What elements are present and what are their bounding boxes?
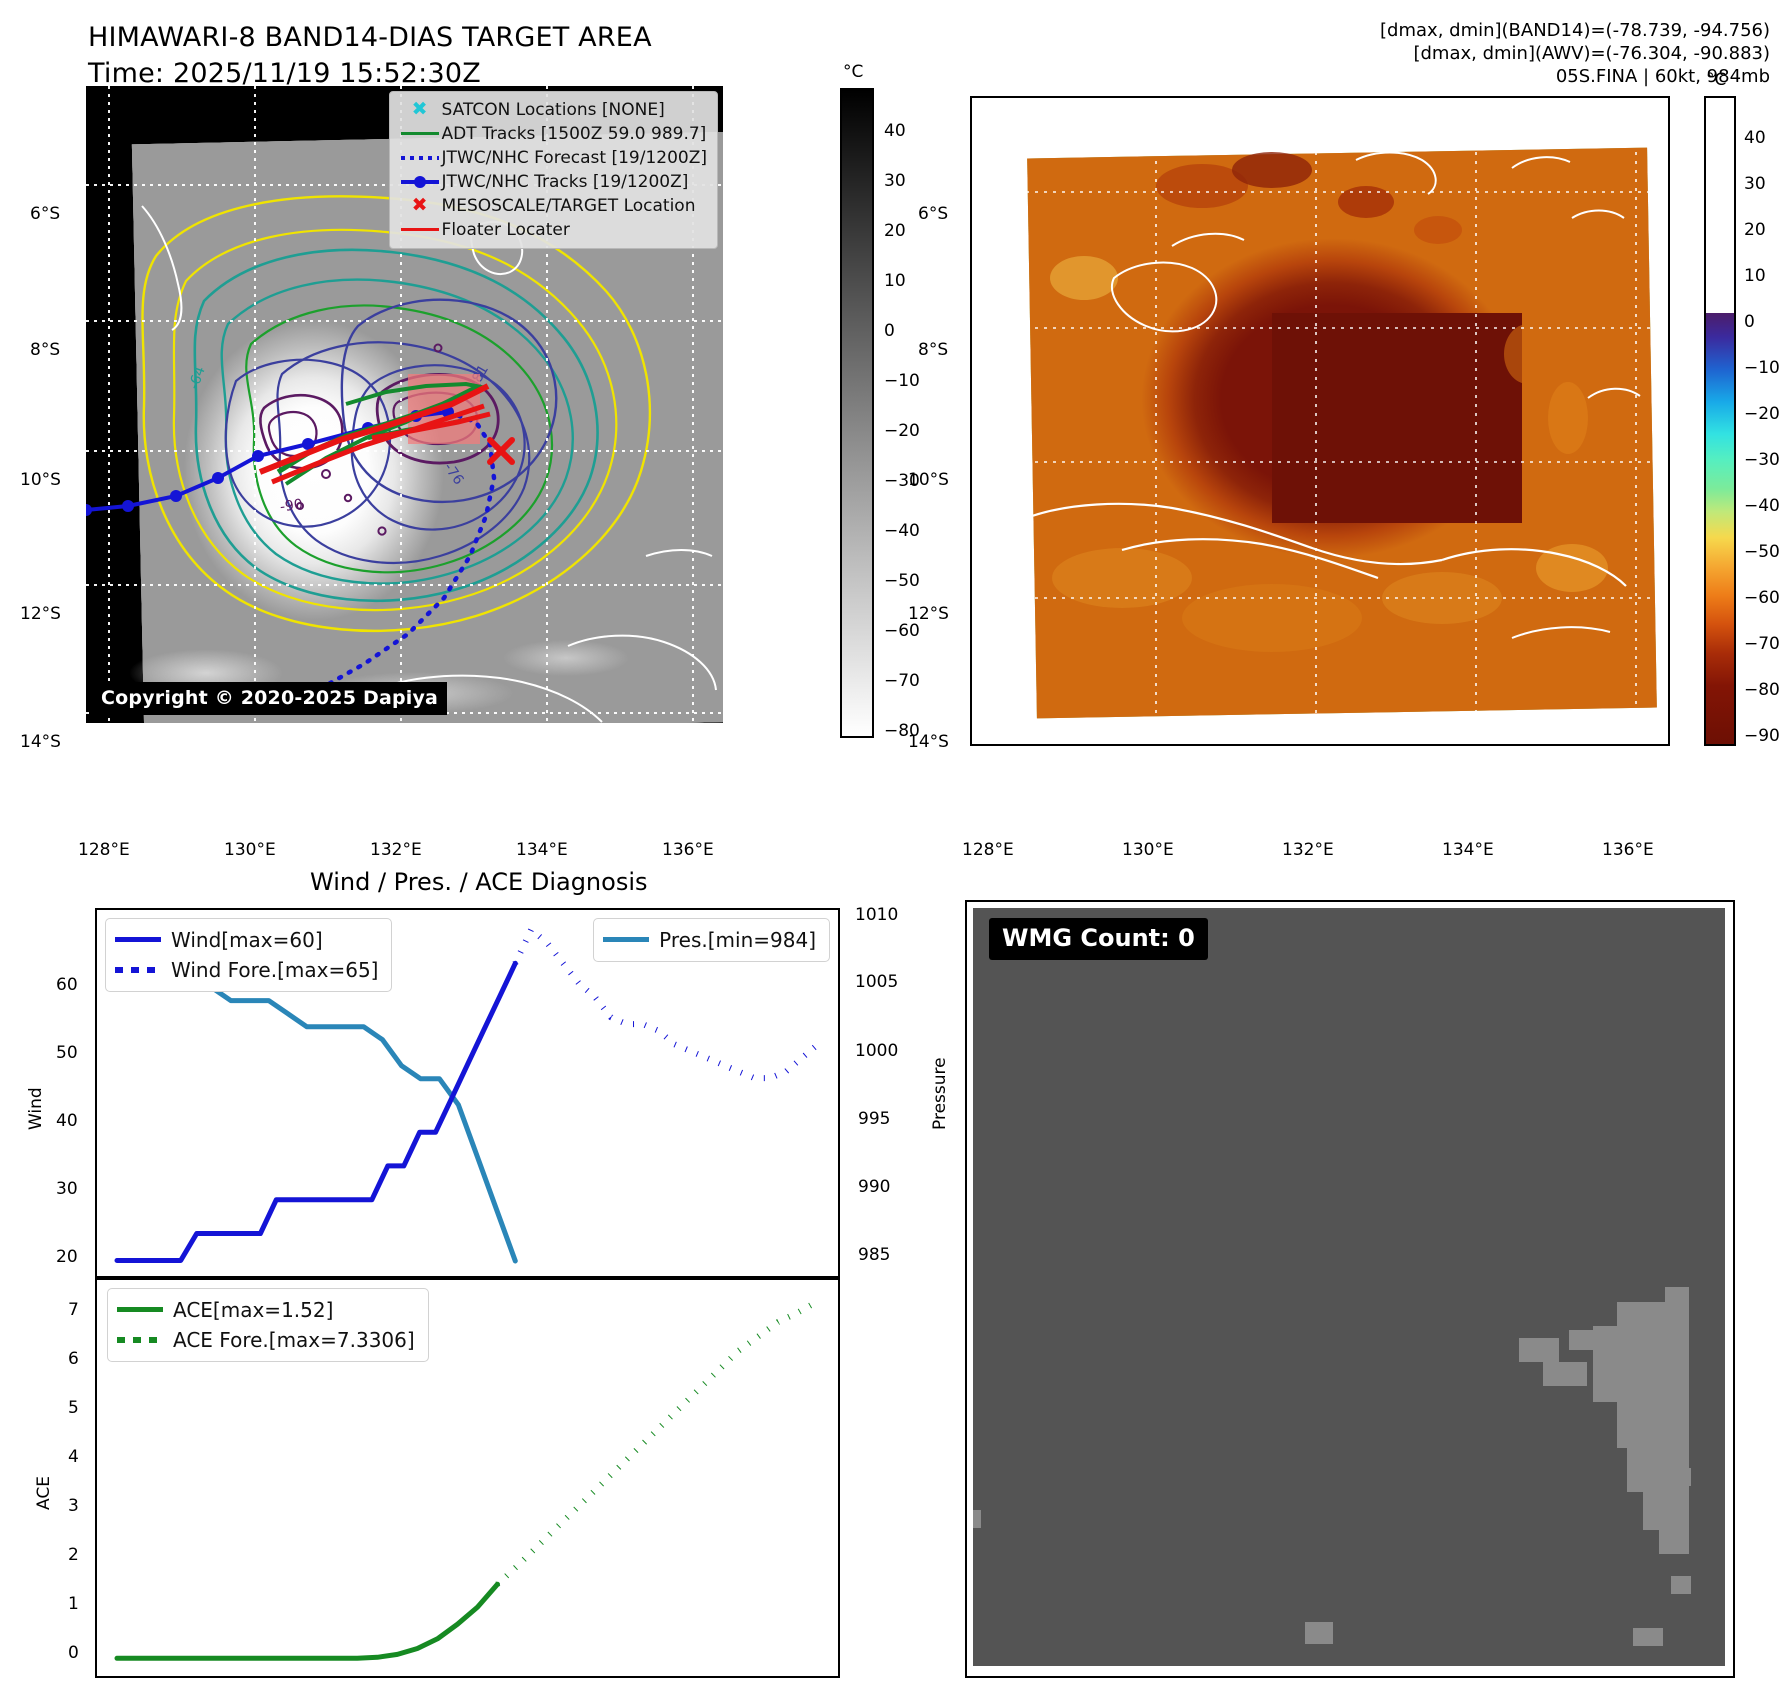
legend-label-adt: ADT Tracks [1500Z 59.0 989.7] <box>442 124 707 144</box>
pressure-line-icon <box>603 937 659 942</box>
awv-satellite-map[interactable] <box>970 96 1670 746</box>
legend-label-ace: ACE[max=1.52] <box>173 1298 333 1322</box>
lon-tick-134e-right: 134°E <box>1442 840 1494 860</box>
legend-item-adt[interactable]: ADT Tracks [1500Z 59.0 989.7] <box>398 122 707 145</box>
storm-id-label: 05S.FINA | 60kt, 984mb <box>1556 66 1770 87</box>
legend-label-satcon: SATCON Locations [NONE] <box>442 100 665 120</box>
legend-item-satcon[interactable]: ✖ SATCON Locations [NONE] <box>398 98 707 121</box>
wind-tick-30: 30 <box>56 1179 78 1199</box>
cbr-tick-10: 10 <box>1744 266 1766 286</box>
lat-tick-12s-right: 12°S <box>908 604 949 624</box>
diagnosis-chart-title: Wind / Pres. / ACE Diagnosis <box>310 868 648 896</box>
wmg-cell <box>1633 1628 1663 1646</box>
mesoscale-x-icon: ✖ <box>398 196 442 215</box>
pres-tick-995: 995 <box>858 1109 890 1129</box>
lat-tick-8s-left: 8°S <box>30 340 60 360</box>
legend-item-floater[interactable]: Floater Locater <box>398 218 707 241</box>
cbr-tick-m10: −10 <box>1744 358 1780 378</box>
cbr-tick-m70: −70 <box>1744 634 1780 654</box>
lon-tick-136e-right: 136°E <box>1602 840 1654 860</box>
cbr-tick-m30: −30 <box>1744 450 1780 470</box>
legend-item-wind-forecast[interactable]: Wind Fore.[max=65] <box>115 956 378 983</box>
wind-axis-label: Wind <box>26 1087 46 1130</box>
cbr-tick-m80: −80 <box>1744 680 1780 700</box>
cbr-tick-0: 0 <box>1744 312 1755 332</box>
wind-line-icon <box>115 937 171 942</box>
track-line-marker-icon <box>398 180 442 184</box>
cbr-tick-m20: −20 <box>1744 404 1780 424</box>
colorbar-right-unit: °C <box>1706 70 1726 90</box>
ace-chart-legend: ACE[max=1.52] ACE Fore.[max=7.3306] <box>107 1288 429 1362</box>
ace-tick-0: 0 <box>68 1643 79 1663</box>
lon-tick-134e-left: 134°E <box>516 840 568 860</box>
lat-tick-10s-right: 10°S <box>908 470 949 490</box>
lon-tick-136e-left: 136°E <box>662 840 714 860</box>
wmg-panel[interactable]: WMG Count: 0 <box>965 900 1735 1678</box>
ace-tick-4: 4 <box>68 1447 79 1467</box>
legend-label-mesoscale: MESOSCALE/TARGET Location <box>442 196 696 216</box>
legend-item-mesoscale[interactable]: ✖ MESOSCALE/TARGET Location <box>398 194 707 217</box>
ace-tick-2: 2 <box>68 1545 79 1565</box>
wind-tick-60: 60 <box>56 975 78 995</box>
colorbar-left-unit: °C <box>843 62 863 82</box>
ace-tick-7: 7 <box>68 1300 79 1320</box>
satcon-x-icon: ✖ <box>398 100 442 119</box>
cbr-tick-m50: −50 <box>1744 542 1780 562</box>
legend-label-forecast: JTWC/NHC Forecast [19/1200Z] <box>442 148 707 168</box>
wmg-cell <box>1643 1492 1689 1530</box>
cbr-tick-m60: −60 <box>1744 588 1780 608</box>
legend-item-ace-forecast[interactable]: ACE Fore.[max=7.3306] <box>117 1326 415 1353</box>
cbl-tick-40: 40 <box>884 121 906 141</box>
dashboard-root: HIMAWARI-8 BAND14-DIAS TARGET AREA Time:… <box>0 0 1788 1690</box>
lon-tick-132e-right: 132°E <box>1282 840 1334 860</box>
cbr-tick-40: 40 <box>1744 128 1766 148</box>
pres-tick-985: 985 <box>858 1245 890 1265</box>
cbl-tick-30: 30 <box>884 171 906 191</box>
cbl-tick-m70: −70 <box>884 671 920 691</box>
forecast-dotted-line-icon <box>398 156 442 160</box>
lat-tick-10s-left: 10°S <box>20 470 61 490</box>
lat-tick-6s-right: 6°S <box>918 204 948 224</box>
wmg-count-badge: WMG Count: 0 <box>989 918 1208 960</box>
dmax-dmin-awv: [dmax, dmin](AWV)=(-76.304, -90.883) <box>1413 43 1770 64</box>
legend-label-wind: Wind[max=60] <box>171 928 323 952</box>
copyright-badge: Copyright © 2020-2025 Dapiya <box>92 682 447 715</box>
legend-item-forecast[interactable]: JTWC/NHC Forecast [19/1200Z] <box>398 146 707 169</box>
wmg-grid-background <box>973 908 1725 1666</box>
wmg-cell <box>1617 1402 1689 1448</box>
pres-tick-1005: 1005 <box>855 972 898 992</box>
lat-tick-8s-right: 8°S <box>918 340 948 360</box>
lon-tick-128e-right: 128°E <box>962 840 1014 860</box>
pressure-chart-legend: Pres.[min=984] <box>593 918 830 962</box>
cbr-tick-30: 30 <box>1744 174 1766 194</box>
cbl-tick-10: 10 <box>884 271 906 291</box>
ace-axis-label: ACE <box>34 1476 54 1510</box>
wmg-cell <box>1659 1530 1689 1554</box>
cbl-tick-0: 0 <box>884 321 895 341</box>
lat-tick-14s-left: 14°S <box>20 732 61 752</box>
legend-item-pressure[interactable]: Pres.[min=984] <box>603 926 816 953</box>
ace-tick-3: 3 <box>68 1496 79 1516</box>
cbl-tick-m10: −10 <box>884 371 920 391</box>
pres-tick-990: 990 <box>858 1177 890 1197</box>
lat-tick-12s-left: 12°S <box>20 604 61 624</box>
legend-item-tracks[interactable]: JTWC/NHC Tracks [19/1200Z] <box>398 170 707 193</box>
ace-tick-5: 5 <box>68 1398 79 1418</box>
ir-satellite-map[interactable]: -81 -90 -76 -64 <box>86 86 723 723</box>
cbr-tick-20: 20 <box>1744 220 1766 240</box>
pres-tick-1010: 1010 <box>855 905 898 925</box>
adt-line-icon <box>398 132 442 135</box>
legend-item-ace[interactable]: ACE[max=1.52] <box>117 1296 415 1323</box>
lon-tick-130e-left: 130°E <box>224 840 276 860</box>
wind-tick-20: 20 <box>56 1247 78 1267</box>
cbr-tick-m90: −90 <box>1744 726 1780 746</box>
ace-forecast-dotted-icon <box>117 1337 173 1343</box>
lon-tick-132e-left: 132°E <box>370 840 422 860</box>
cbl-tick-m60: −60 <box>884 621 920 641</box>
wind-forecast-dotted-icon <box>115 967 171 973</box>
ace-line-icon <box>117 1307 173 1312</box>
wind-tick-40: 40 <box>56 1111 78 1131</box>
wind-tick-50: 50 <box>56 1043 78 1063</box>
wmg-cell <box>1569 1330 1617 1350</box>
awv-overlay <box>972 98 1670 746</box>
cbl-tick-m40: −40 <box>884 521 920 541</box>
wind-pressure-chart[interactable]: Wind[max=60] Wind Fore.[max=65] Pres.[mi… <box>95 908 840 1278</box>
colorbar-left <box>840 88 874 738</box>
colorbar-right <box>1704 96 1736 746</box>
lat-tick-6s-left: 6°S <box>30 204 60 224</box>
lon-tick-130e-right: 130°E <box>1122 840 1174 860</box>
ace-chart[interactable]: ACE[max=1.52] ACE Fore.[max=7.3306] <box>95 1278 840 1678</box>
cbl-tick-20: 20 <box>884 221 906 241</box>
wmg-cell <box>973 1510 981 1528</box>
mesoscale-target-marker <box>490 440 512 462</box>
ace-tick-6: 6 <box>68 1349 79 1369</box>
legend-label-ace-forecast: ACE Fore.[max=7.3306] <box>173 1328 415 1352</box>
page-title: HIMAWARI-8 BAND14-DIAS TARGET AREA <box>88 22 652 53</box>
legend-label-floater: Floater Locater <box>442 220 570 240</box>
legend-label-tracks: JTWC/NHC Tracks [19/1200Z] <box>442 172 689 192</box>
pres-tick-1000: 1000 <box>855 1041 898 1061</box>
legend-label-pressure: Pres.[min=984] <box>659 928 816 952</box>
wmg-cell <box>1671 1576 1691 1594</box>
floater-line-icon <box>398 228 442 231</box>
legend-label-wind-forecast: Wind Fore.[max=65] <box>171 958 378 982</box>
observation-time: Time: 2025/11/19 15:52:30Z <box>88 58 481 89</box>
lat-tick-14s-right: 14°S <box>908 732 949 752</box>
cbl-tick-m20: −20 <box>884 421 920 441</box>
legend-item-wind[interactable]: Wind[max=60] <box>115 926 378 953</box>
cbr-tick-m40: −40 <box>1744 496 1780 516</box>
map-legend: ✖ SATCON Locations [NONE] ADT Tracks [15… <box>389 91 718 249</box>
pressure-axis-label: Pressure <box>930 1057 950 1130</box>
wmg-cell <box>1673 1468 1691 1486</box>
wmg-cell <box>1519 1338 1559 1362</box>
dmax-dmin-band14: [dmax, dmin](BAND14)=(-78.739, -94.756) <box>1380 20 1770 41</box>
ace-tick-1: 1 <box>68 1594 79 1614</box>
wmg-cell <box>1305 1622 1333 1644</box>
wmg-cell <box>1617 1302 1689 1326</box>
cbl-tick-m50: −50 <box>884 571 920 591</box>
wmg-cell <box>1593 1350 1689 1402</box>
lon-tick-128e-left: 128°E <box>78 840 130 860</box>
wmg-cell <box>1543 1362 1587 1386</box>
wind-chart-legend: Wind[max=60] Wind Fore.[max=65] <box>105 918 392 992</box>
